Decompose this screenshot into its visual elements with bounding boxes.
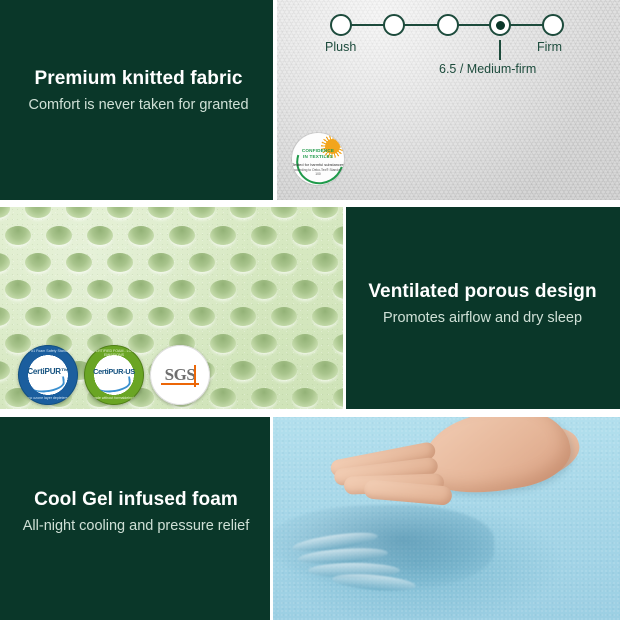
certipur-us-badge: CERTIFIED FOAM - LOW EMISSIONS CertiPUR-… [84, 345, 144, 405]
oeko-tex-confidence-in-textiles-badge: CONFIDENCE IN TEXTILES Tested for harmfu… [292, 133, 344, 185]
foam-dimple [128, 280, 154, 299]
firmness-step-3[interactable] [437, 14, 459, 36]
panel-heading: Ventilated porous design [345, 281, 620, 303]
firmness-step-1[interactable] [330, 14, 352, 36]
foam-dimple [210, 226, 236, 245]
foam-dimple [25, 307, 51, 326]
foam-dimple [230, 307, 256, 326]
foam-dimple [107, 253, 133, 272]
foam-dimple [292, 226, 318, 245]
foam-dimple [230, 253, 256, 272]
column-divider-row3 [270, 417, 273, 620]
foam-dimple [292, 388, 318, 407]
foam-dimple [210, 388, 236, 407]
firmness-scale: Plush Firm 6.5 / Medium-firm [277, 0, 620, 90]
foam-dimple [312, 307, 338, 326]
firmness-step-2[interactable] [383, 14, 405, 36]
firmness-step-5[interactable] [542, 14, 564, 36]
panel-subheading: All-night cooling and pressure relief [0, 518, 272, 535]
certipur-name: CertiPUR™ [18, 367, 78, 376]
certipur-us-name: CertiPUR-US [84, 367, 144, 376]
panel-copy: Ventilated porous design Promotes airflo… [345, 281, 620, 327]
firmness-selected-label: 6.5 / Medium-firm [439, 62, 536, 76]
foam-dimple [189, 253, 215, 272]
panel-cool-gel-infused-foam: Cool Gel infused foam All-night cooling … [0, 417, 272, 620]
oeko-line-2: IN TEXTILES [292, 154, 344, 159]
product-feature-infographic: Premium knitted fabric Comfort is never … [0, 0, 620, 620]
foam-dimple [312, 361, 338, 380]
column-divider-row2 [343, 207, 346, 409]
foam-dimple [148, 307, 174, 326]
foam-dimple [292, 334, 318, 353]
certipur-us-micro-bottom: made without formaldehyde [84, 396, 144, 400]
oeko-line-1: CONFIDENCE [292, 148, 344, 153]
foam-dimple [128, 226, 154, 245]
foam-dimple [5, 226, 31, 245]
foam-dimple [271, 361, 297, 380]
foam-dimple [210, 280, 236, 299]
foam-dimple [312, 253, 338, 272]
foam-dimple [292, 280, 318, 299]
row-divider-2 [0, 409, 620, 417]
foam-dimple [66, 307, 92, 326]
foam-dimple [169, 226, 195, 245]
foam-dimple [251, 334, 277, 353]
sgs-badge: SGS [150, 345, 210, 405]
foam-dimple [189, 307, 215, 326]
certipur-us-micro-top: CERTIFIED FOAM - LOW EMISSIONS [84, 349, 144, 357]
oeko-line-4: according to Oeko-Tex® Standard 100 [292, 168, 344, 176]
foam-dimple [271, 253, 297, 272]
sgs-accent-vertical [194, 365, 196, 387]
panel-copy: Cool Gel infused foam All-night cooling … [0, 489, 272, 535]
panel-copy: Premium knitted fabric Comfort is never … [0, 68, 277, 114]
foam-dimple [271, 307, 297, 326]
foam-dimple [148, 253, 174, 272]
panel-ventilated-porous-design: Ventilated porous design Promotes airflo… [345, 207, 620, 409]
foam-dimple [87, 226, 113, 245]
foam-dimple [87, 280, 113, 299]
certipur-badge: The #1 Foam Safety Standard CertiPUR™ no… [18, 345, 78, 405]
foam-dimple [107, 307, 133, 326]
panel-heading: Premium knitted fabric [0, 68, 277, 90]
firmness-pointer-stem [499, 40, 501, 60]
foam-dimple [66, 253, 92, 272]
foam-dimple [230, 361, 256, 380]
row-divider-1 [0, 200, 620, 207]
foam-dimple [25, 253, 51, 272]
foam-dimple [251, 280, 277, 299]
oeko-line-3: Tested for harmful substances [292, 162, 344, 167]
certipur-micro-top: The #1 Foam Safety Standard [18, 349, 78, 353]
firmness-start-label: Plush [325, 40, 356, 54]
foam-dimple [5, 280, 31, 299]
panel-subheading: Comfort is never taken for granted [0, 97, 277, 114]
column-divider-row1 [273, 0, 277, 200]
certipur-micro-bottom: no ozone layer depleters [18, 396, 78, 400]
foam-dimple [210, 334, 236, 353]
foam-dimple [46, 280, 72, 299]
foam-dimple [169, 280, 195, 299]
gel-foam-hand-photo [272, 417, 620, 620]
sgs-name: SGS [150, 365, 210, 385]
panel-subheading: Promotes airflow and dry sleep [345, 310, 620, 327]
foam-dimple [251, 388, 277, 407]
firmness-end-label: Firm [537, 40, 562, 54]
foam-dimple [251, 226, 277, 245]
foam-dimple [46, 226, 72, 245]
panel-heading: Cool Gel infused foam [0, 489, 272, 511]
firmness-step-4-selected[interactable] [489, 14, 511, 36]
panel-premium-knitted-fabric: Premium knitted fabric Comfort is never … [0, 0, 277, 200]
